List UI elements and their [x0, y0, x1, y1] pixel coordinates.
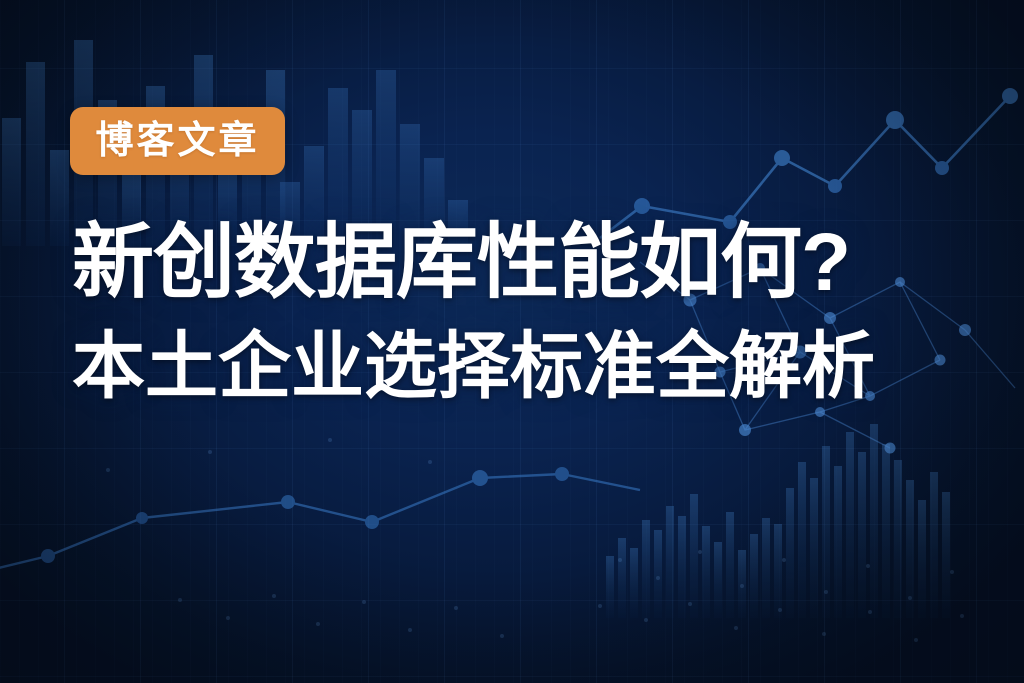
blog-cover-banner: 博客文章 新创数据库性能如何? 本土企业选择标准全解析 — [0, 0, 1024, 683]
category-badge-label: 博客文章 — [95, 122, 259, 160]
title-line-1: 新创数据库性能如何? — [72, 222, 972, 304]
cover-title-block: 新创数据库性能如何? 本土企业选择标准全解析 — [72, 222, 972, 403]
cover-content: 博客文章 新创数据库性能如何? 本土企业选择标准全解析 — [0, 0, 1024, 683]
title-line-2: 本土企业选择标准全解析 — [72, 330, 972, 403]
category-badge[interactable]: 博客文章 — [70, 107, 285, 175]
